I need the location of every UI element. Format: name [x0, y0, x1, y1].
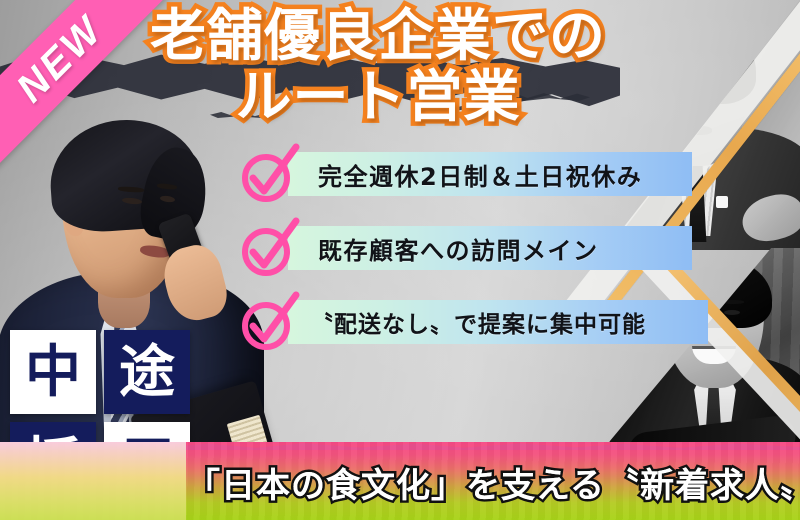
- kanji-tile-to: 途: [104, 330, 190, 414]
- kanji-tile-naka: 中: [10, 330, 96, 414]
- check-circle-icon: [236, 142, 300, 206]
- headline: 老舗優良企業での ルート営業: [118, 8, 638, 126]
- photo-tr-lapel-pin: [716, 196, 728, 208]
- benefit-text: 〝配送なし〟で提案に集中可能: [310, 305, 646, 339]
- footer-text: 「日本の食文化」を支える〝新着求人〟: [186, 458, 800, 507]
- benefit-bar: 完全週休2日制＆土日祝休み: [288, 152, 692, 196]
- footer-band-left-tab: [0, 442, 186, 520]
- headline-line-1: 老舗優良企業での: [118, 8, 638, 65]
- benefit-item: 完全週休2日制＆土日祝休み: [236, 146, 692, 202]
- job-ad-banner: NEW 老舗優良企業での ルート営業 完全週休2日制＆土日祝休み 既存顧客への訪…: [0, 0, 800, 520]
- benefit-item: 既存顧客への訪問メイン: [236, 220, 692, 276]
- headline-line-2: ルート営業: [118, 69, 638, 126]
- benefit-item: 〝配送なし〟で提案に集中可能: [236, 294, 692, 350]
- benefit-bar: 〝配送なし〟で提案に集中可能: [288, 300, 708, 344]
- benefit-list: 完全週休2日制＆土日祝休み 既存顧客への訪問メイン 〝配送なし〟で提案に集中可能: [236, 146, 692, 368]
- benefit-text: 既存顧客への訪問メイン: [318, 231, 599, 266]
- footer-band: 「日本の食文化」を支える〝新着求人〟 「日本の食文化」を支える〝新着求人〟: [0, 442, 800, 520]
- photo-br-eye: [724, 310, 740, 315]
- benefit-text: 完全週休2日制＆土日祝休み: [318, 157, 642, 192]
- check-circle-icon: [236, 290, 300, 354]
- benefit-bar: 既存顧客への訪問メイン: [288, 226, 692, 270]
- check-circle-icon: [236, 216, 300, 280]
